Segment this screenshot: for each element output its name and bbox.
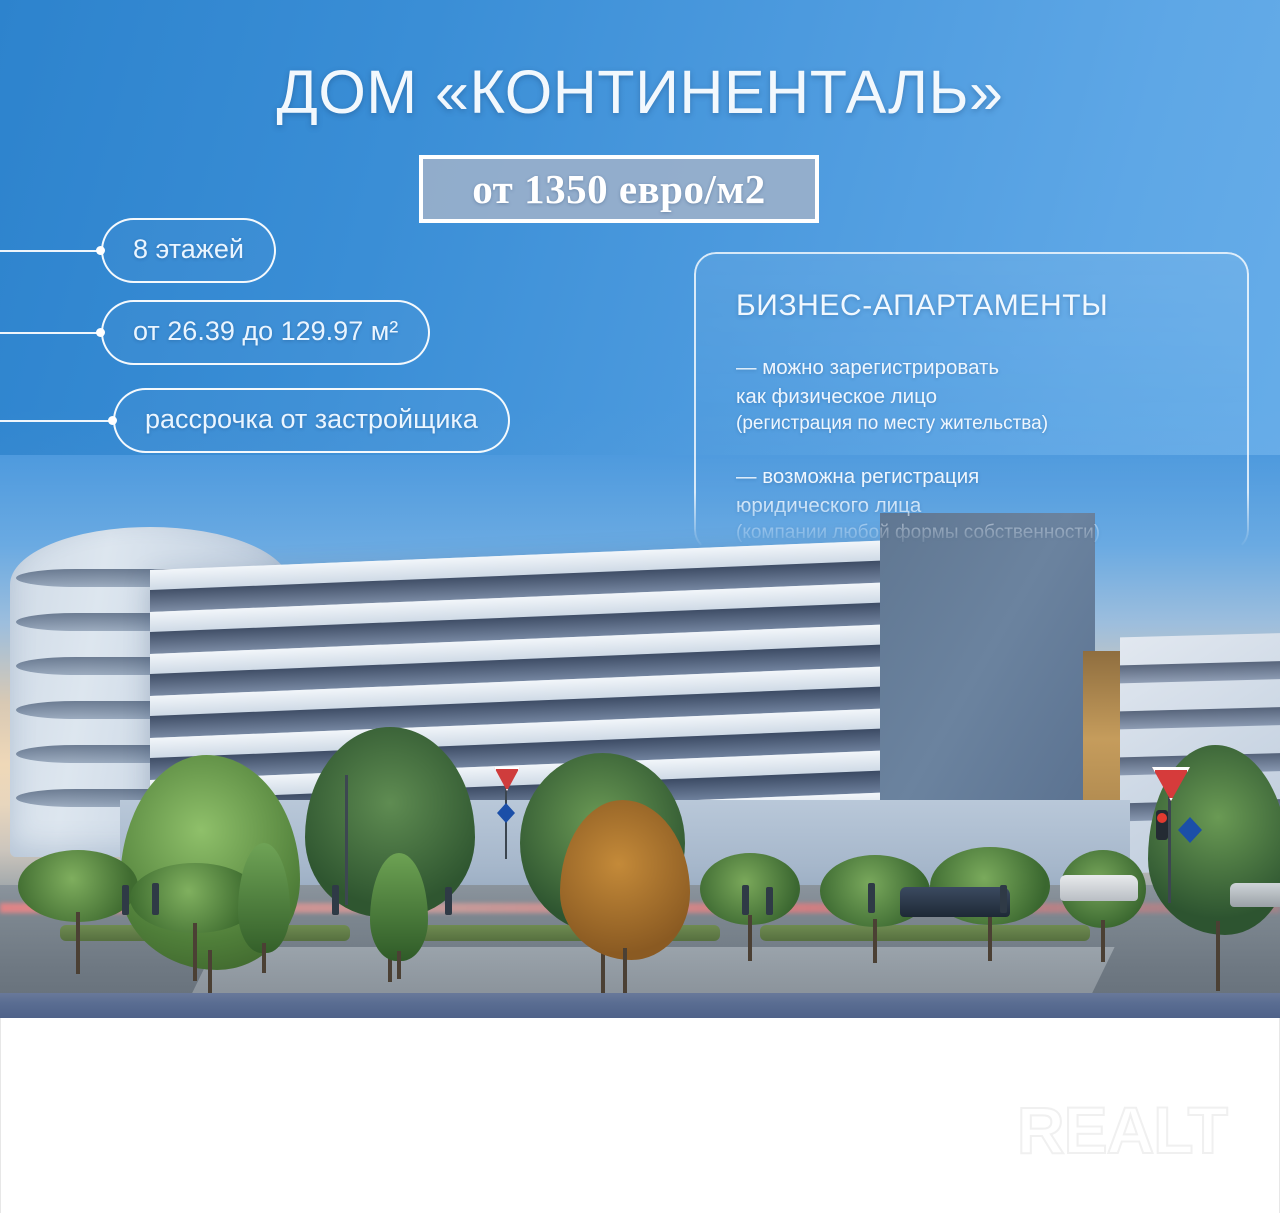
pedestrian xyxy=(332,885,339,915)
connector-dot xyxy=(108,416,117,425)
connector-dot xyxy=(96,328,105,337)
feature-pill-label: 8 этажей xyxy=(101,218,276,283)
car xyxy=(1060,875,1138,901)
pedestrian xyxy=(1000,885,1007,913)
pedestrian xyxy=(766,887,773,915)
realt-watermark: REALT xyxy=(1017,1092,1227,1168)
connector-line xyxy=(0,250,100,252)
lamp-post xyxy=(345,775,348,905)
separator-band xyxy=(0,993,1280,1018)
panel-bullet-legal-entity: — возможна регистрация юридического лица… xyxy=(736,462,1213,547)
feature-pill-floors[interactable]: 8 этажей xyxy=(0,218,276,283)
pedestrian xyxy=(122,885,129,915)
pedestrian xyxy=(742,885,749,915)
pedestrian xyxy=(868,883,875,913)
footer-panel: Звоните/пишите в viber/whatsapp/telegram… xyxy=(0,1018,1280,1213)
poster-image: ДОМ «КОНТИНЕНТАЛЬ» от 1350 евро/м2 8 эта… xyxy=(0,0,1280,1018)
tree xyxy=(560,800,690,960)
page-title: ДОМ «КОНТИНЕНТАЛЬ» xyxy=(0,62,1280,123)
pedestrian xyxy=(152,883,159,915)
feature-pill-label: от 26.39 до 129.97 м² xyxy=(101,300,430,365)
connector-dot xyxy=(96,246,105,255)
pedestrian xyxy=(445,887,452,915)
panel-bullet-line3: (компании любой формы собственности) xyxy=(736,520,1213,547)
panel-bullet-line2: юридического лица xyxy=(736,491,1213,520)
feature-pill-installments[interactable]: рассрочка от застройщика xyxy=(0,388,510,453)
connector-line xyxy=(0,332,100,334)
price-badge: от 1350 евро/м2 xyxy=(419,155,819,223)
business-apartments-panel: БИЗНЕС-АПАРТАМЕНТЫ — можно зарегистриров… xyxy=(694,252,1249,552)
car xyxy=(1230,883,1280,907)
poster-page: ДОМ «КОНТИНЕНТАЛЬ» от 1350 евро/м2 8 эта… xyxy=(0,0,1280,1213)
business-apartments-heading: БИЗНЕС-АПАРТАМЕНТЫ xyxy=(736,289,1213,323)
panel-bullet-line1: — возможна регистрация xyxy=(736,462,1213,491)
price-badge-label: от 1350 евро/м2 xyxy=(472,165,766,213)
panel-bullet-individual: — можно зарегистрировать как физическое … xyxy=(736,353,1213,438)
traffic-light-red xyxy=(1157,813,1167,823)
car xyxy=(900,887,1010,917)
tree xyxy=(700,853,800,925)
hedge xyxy=(760,925,1090,941)
panel-bullet-line2: как физическое лицо xyxy=(736,382,1213,411)
panel-bullet-line3: (регистрация по месту жительства) xyxy=(736,411,1213,438)
panel-bullet-line1: — можно зарегистрировать xyxy=(736,353,1213,382)
tree xyxy=(238,843,290,953)
connector-line xyxy=(0,420,112,422)
tree xyxy=(370,853,428,961)
tree xyxy=(18,850,138,922)
feature-pill-label: рассрочка от застройщика xyxy=(113,388,510,453)
feature-pill-area[interactable]: от 26.39 до 129.97 м² xyxy=(0,300,430,365)
